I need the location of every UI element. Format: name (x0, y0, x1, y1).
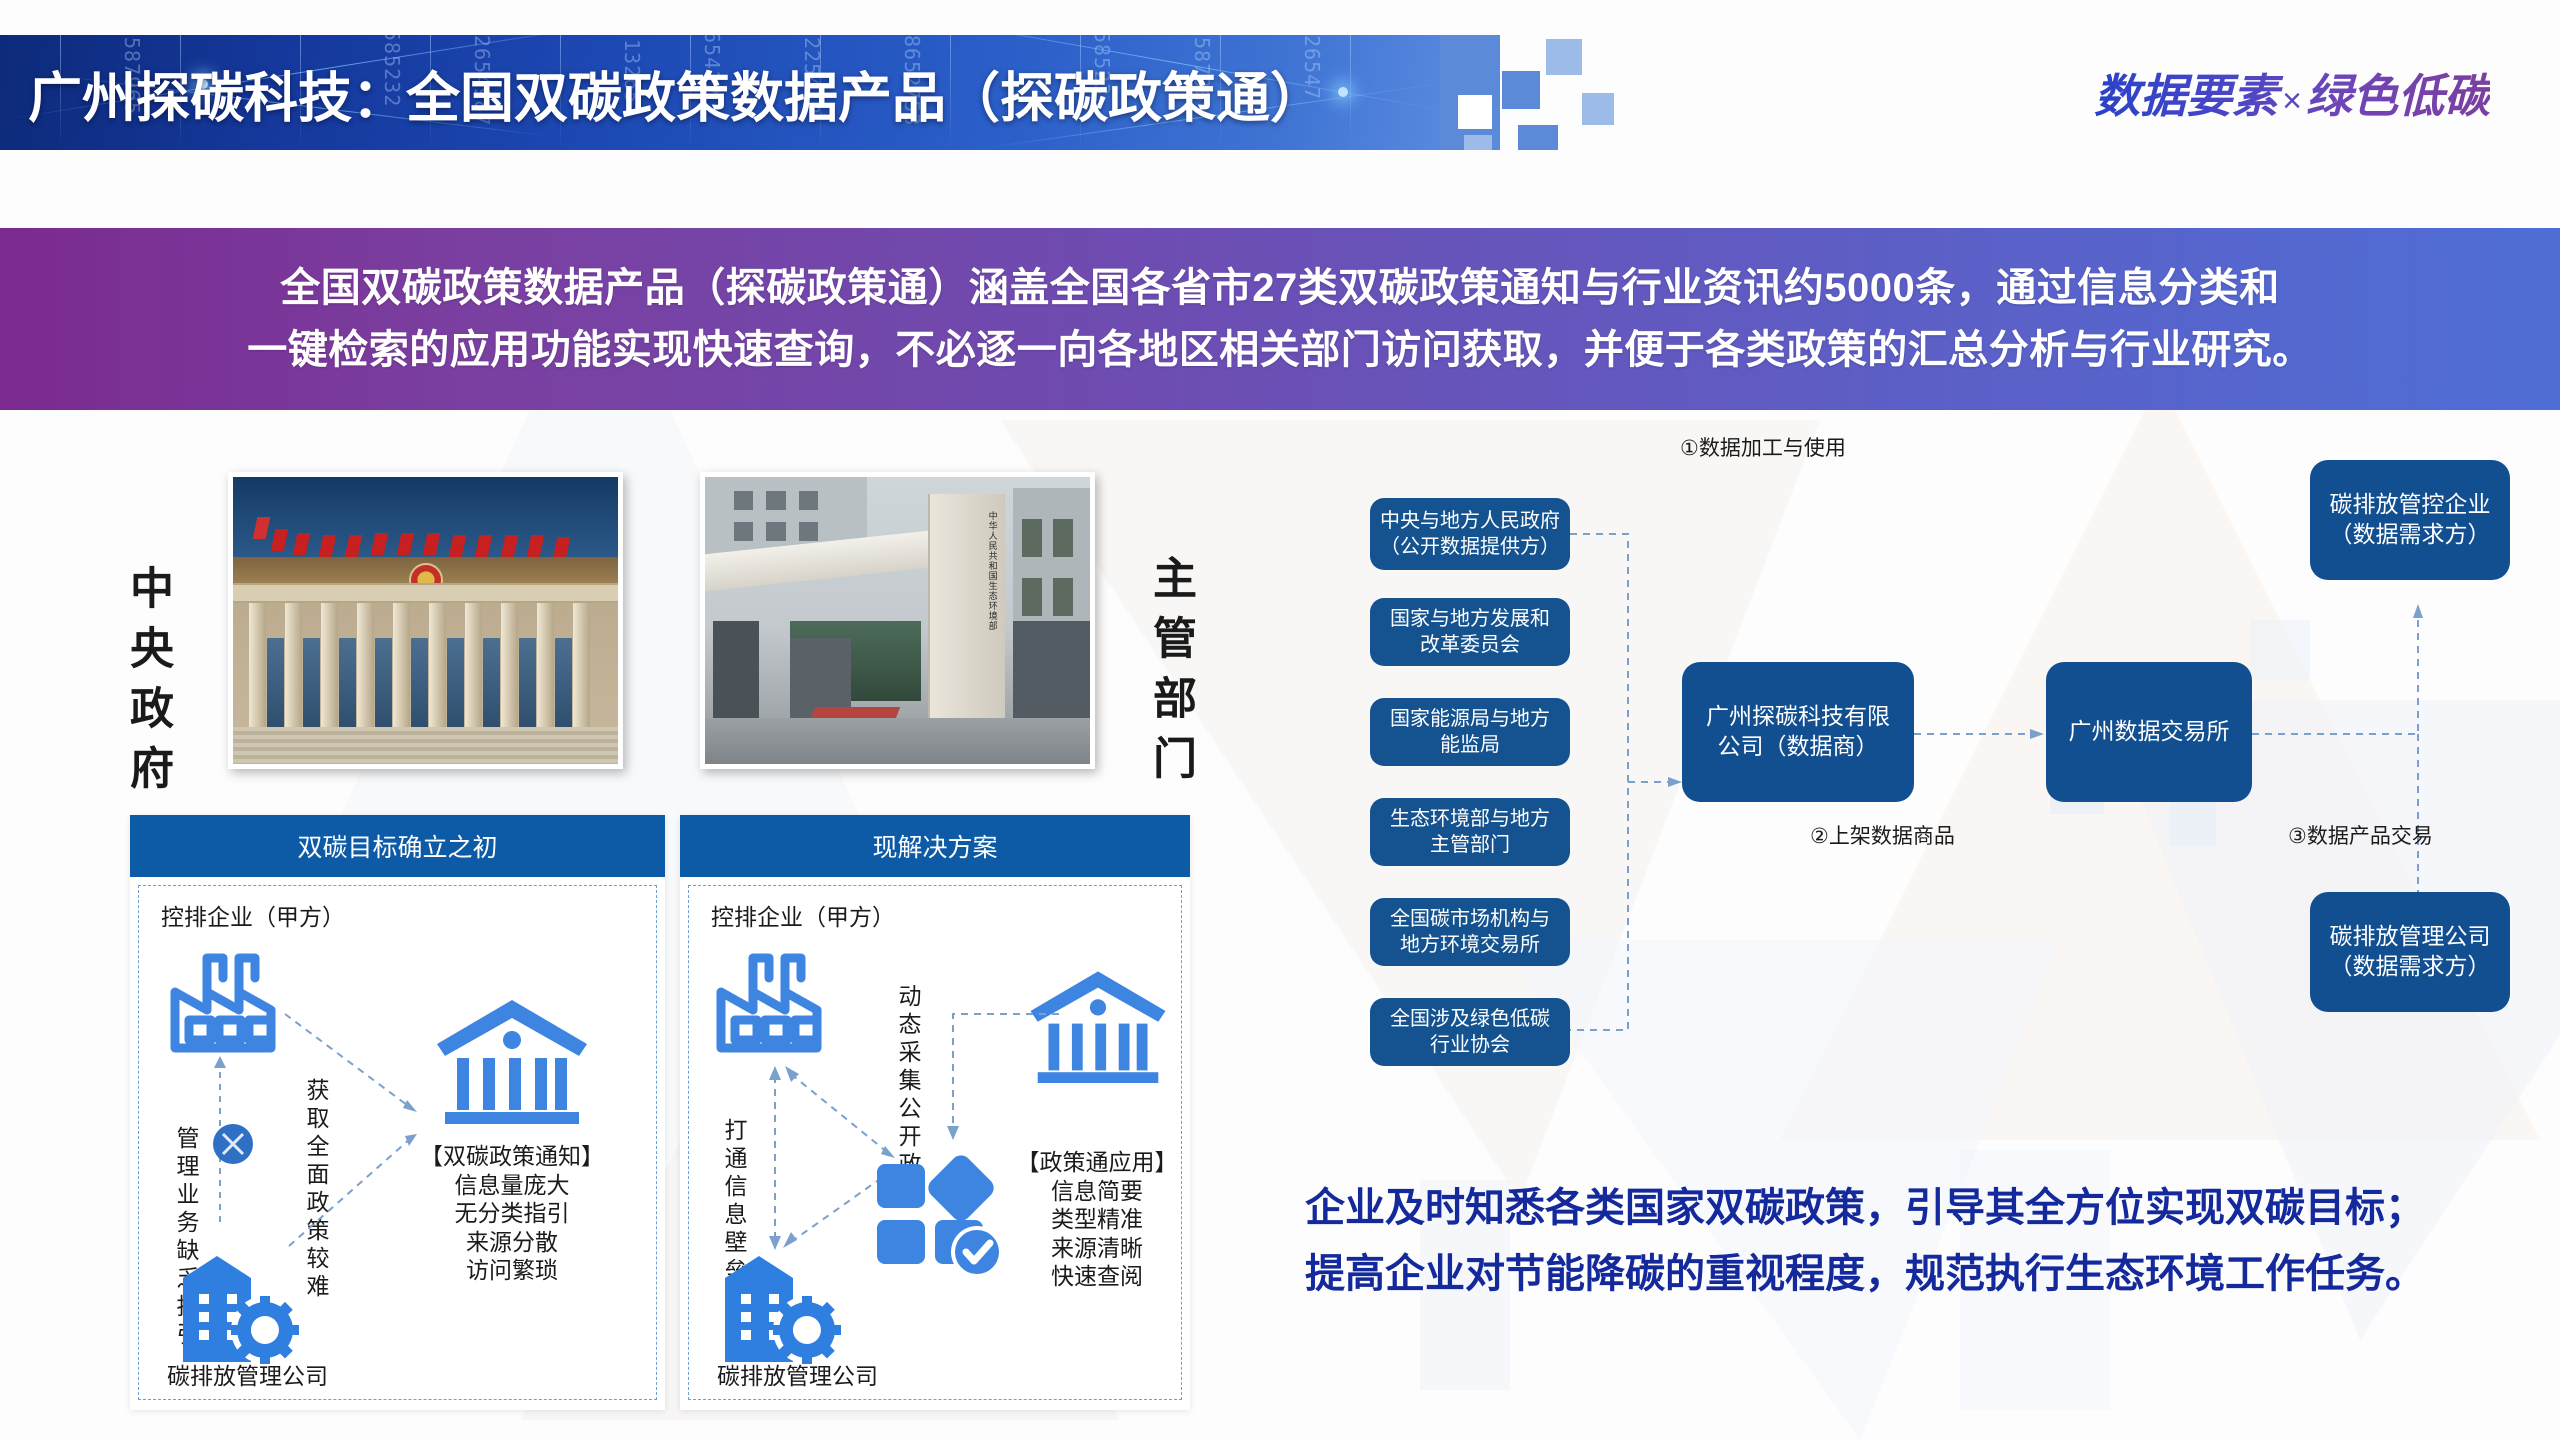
flow-source-box-0[interactable]: 中央与地方人民政府 （公开数据提供方） (1370, 498, 1570, 570)
summary-banner-text: 全国双碳政策数据产品（探碳政策通）涵盖全国各省市27类双碳政策通知与行业资讯约5… (247, 257, 2313, 381)
flow-source-box-1[interactable]: 国家与地方发展和 改革委员会 (1370, 598, 1570, 666)
summary-banner: 全国双碳政策数据产品（探碳政策通）涵盖全国各省市27类双碳政策通知与行业资讯约5… (0, 228, 2560, 410)
flow-consumer-bottom-label: 碳排放管理公司 （数据需求方） (2330, 922, 2491, 982)
policy-app-icon (873, 1144, 1013, 1274)
flow-source-label: 中央与地方人民政府 （公开数据提供方） (1380, 508, 1560, 560)
conclusion-line-2: 提高企业对节能降碳的重视程度，规范执行生态环境工作任务。 (1305, 1241, 2535, 1307)
flow-step-2-label: ②上架数据商品 (1810, 820, 1955, 850)
panel-after: 现解决方案 控排企业（甲方） 打通信息壁垒 动态采集公开政策 (680, 815, 1190, 1410)
exchange-to-consumers-lines (2250, 602, 2510, 932)
data-flow-diagram: 中央与地方人民政府 （公开数据提供方） 国家与地方发展和 改革委员会 国家能源局… (1330, 490, 2550, 1130)
label-central-government: 中央政府 (125, 565, 169, 805)
panel-before-result: 【双碳政策通知】 信息量庞大 无分类指引 来源分散 访问繁琐 (387, 1142, 637, 1285)
result-line: 类型精准 (1007, 1205, 1187, 1234)
source-bracket-lines (1566, 526, 1686, 1046)
flow-step-3-label: ③数据产品交易 (2288, 820, 2433, 850)
flow-source-label: 国家与地方发展和 改革委员会 (1390, 606, 1550, 658)
conclusion-line-1: 企业及时知悉各类国家双碳政策，引导其全方位实现双碳目标； (1305, 1175, 2535, 1241)
flow-source-label: 全国碳市场机构与 地方环境交易所 (1390, 906, 1550, 958)
panel-after-party-label: 控排企业（甲方） (711, 898, 895, 932)
government-bank-icon (431, 994, 593, 1134)
panel-before-title: 双碳目标确立之初 (130, 815, 665, 877)
flow-source-label: 生态环境部与地方 主管部门 (1390, 806, 1550, 858)
pillar-sign-text: 中华人民共和国生态环境部 (936, 511, 998, 712)
result-line: 来源清晰 (1007, 1234, 1187, 1263)
result-line: 信息简要 (1007, 1177, 1187, 1206)
result-line: 访问繁琐 (387, 1256, 637, 1285)
slogan-left: 数据要素 (2094, 70, 2278, 122)
flow-vendor-box[interactable]: 广州探碳科技有限 公司（数据商） (1682, 662, 1914, 802)
photo-ministry-of-ecology: 中华人民共和国生态环境部 (700, 472, 1095, 769)
panel-before-bottom-label: 碳排放管理公司 (167, 1357, 328, 1391)
slogan-multiply-icon: × (2278, 82, 2306, 120)
photo-great-hall (228, 472, 623, 769)
summary-line-2: 一键检索的应用功能实现快速查询，不必逐一向各地区相关部门访问获取，并便于各类政策… (247, 319, 2313, 381)
collect-flow-line (939, 1006, 1069, 1146)
flow-consumer-bottom-box[interactable]: 碳排放管理公司 （数据需求方） (2310, 892, 2510, 1012)
flow-exchange-box[interactable]: 广州数据交易所 (2046, 662, 2252, 802)
panel-before-party-label: 控排企业（甲方） (161, 898, 345, 932)
panel-after-bottom-label: 碳排放管理公司 (717, 1357, 878, 1391)
panel-before-body: 控排企业（甲方） 管理业务缺乏指引 获取全面政策较难 (138, 885, 657, 1400)
page-header: 587965 585232 2654987 13265 65412 225412… (0, 35, 2560, 150)
header-banner-bar: 587965 585232 2654987 13265 65412 225412… (0, 35, 1455, 150)
flow-source-box-4[interactable]: 全国碳市场机构与 地方环境交易所 (1370, 898, 1570, 966)
panel-after-title: 现解决方案 (680, 815, 1190, 877)
panel-before-result-title: 【双碳政策通知】 (387, 1142, 637, 1171)
factory-icon (711, 944, 843, 1054)
panel-before: 双碳目标确立之初 控排企业（甲方） 管理业务缺乏指引 获取全面政策较难 (130, 815, 665, 1410)
conclusion-text: 企业及时知悉各类国家双碳政策，引导其全方位实现双碳目标； 提高企业对节能降碳的重… (1305, 1175, 2535, 1307)
company-gear-icon (173, 1238, 301, 1366)
result-line: 快速查阅 (1007, 1262, 1187, 1291)
page-title: 广州探碳科技：全国双碳政策数据产品（探碳政策通） (28, 53, 1324, 132)
summary-line-1: 全国双碳政策数据产品（探碳政策通）涵盖全国各省市27类双碳政策通知与行业资讯约5… (247, 257, 2313, 319)
header-pixel-blocks (1440, 35, 1800, 150)
panel-after-body: 控排企业（甲方） 打通信息壁垒 动态采集公开政策 (688, 885, 1182, 1400)
label-competent-department: 主管部门 (1148, 555, 1192, 795)
flow-consumer-top-box[interactable]: 碳排放管控企业 （数据需求方） (2310, 460, 2510, 580)
vendor-to-exchange-line (1914, 722, 2050, 746)
header-slogan: 数据要素×绿色低碳 (2094, 60, 2490, 126)
flow-consumer-top-label: 碳排放管控企业 （数据需求方） (2330, 490, 2491, 550)
flow-source-label: 国家能源局与地方 能监局 (1390, 706, 1550, 758)
panel-after-result: 【政策通应用】 信息简要 类型精准 来源清晰 快速查阅 (1007, 1148, 1187, 1291)
company-gear-icon (715, 1238, 843, 1366)
flow-source-label: 全国涉及绿色低碳 行业协会 (1390, 1006, 1550, 1058)
flow-source-box-3[interactable]: 生态环境部与地方 主管部门 (1370, 798, 1570, 866)
panel-after-result-title: 【政策通应用】 (1007, 1148, 1187, 1177)
slogan-right: 绿色低碳 (2306, 70, 2490, 122)
result-line: 无分类指引 (387, 1199, 637, 1228)
result-line: 信息量庞大 (387, 1171, 637, 1200)
flow-source-box-5[interactable]: 全国涉及绿色低碳 行业协会 (1370, 998, 1570, 1066)
flow-source-box-2[interactable]: 国家能源局与地方 能监局 (1370, 698, 1570, 766)
flow-vendor-label: 广州探碳科技有限 公司（数据商） (1706, 702, 1890, 762)
flow-exchange-label: 广州数据交易所 (2069, 717, 2230, 747)
flow-step-1-label: ①数据加工与使用 (1680, 432, 1846, 462)
result-line: 来源分散 (387, 1228, 637, 1257)
